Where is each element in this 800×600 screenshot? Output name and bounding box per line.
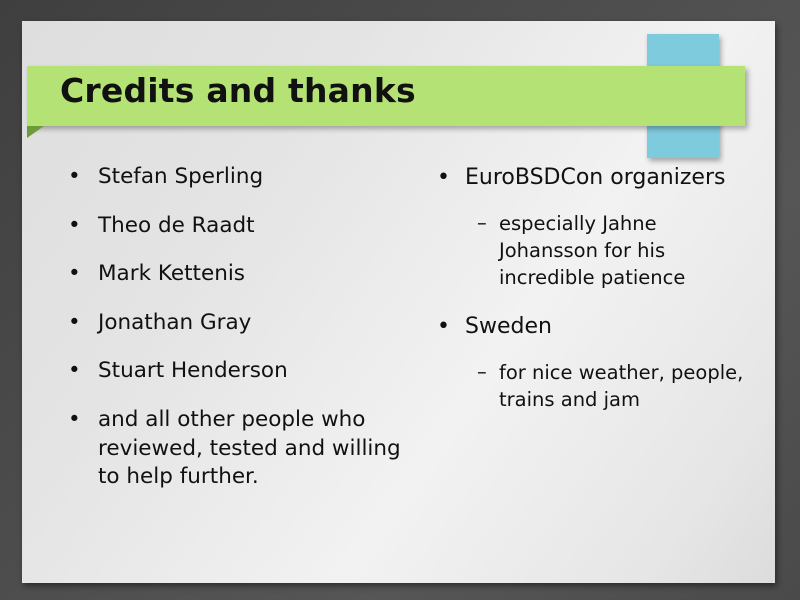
sub-bullet-marker: – — [477, 210, 487, 236]
bullet-marker: • — [437, 312, 450, 341]
slide-title: Credits and thanks — [60, 71, 416, 110]
list-item: • and all other people who reviewed, tes… — [68, 406, 428, 492]
list-item: • EuroBSDCon organizers — [437, 163, 787, 192]
bullet-marker: • — [68, 260, 81, 289]
bullet-marker: • — [437, 163, 450, 192]
list-item-text: EuroBSDCon organizers — [437, 163, 787, 192]
slide-canvas: Credits and thanks • Stefan Sperling • T… — [22, 21, 775, 583]
sub-list-item: – especially Jahne Johansson for his inc… — [437, 210, 787, 291]
list-item-text: Mark Kettenis — [68, 260, 428, 289]
right-content-column: • EuroBSDCon organizers – especially Jah… — [437, 163, 787, 413]
list-item-text: Theo de Raadt — [68, 212, 428, 241]
list-item: • Stefan Sperling — [68, 163, 428, 192]
bullet-marker: • — [68, 406, 81, 435]
title-banner-fold-shape — [27, 126, 44, 138]
list-item: • Stuart Henderson — [68, 357, 428, 386]
bullet-marker: • — [68, 357, 81, 386]
sub-list-item-text: for nice weather, people, trains and jam — [437, 359, 781, 413]
list-item-text: and all other people who reviewed, teste… — [68, 406, 418, 492]
list-item-text: Jonathan Gray — [68, 309, 428, 338]
list-item-text: Sweden — [437, 312, 787, 341]
bullet-marker: • — [68, 309, 81, 338]
list-item-text: Stuart Henderson — [68, 357, 428, 386]
list-item: • Mark Kettenis — [68, 260, 428, 289]
list-item: • Jonathan Gray — [68, 309, 428, 338]
sub-bullet-marker: – — [477, 359, 487, 385]
left-content-column: • Stefan Sperling • Theo de Raadt • Mark… — [68, 163, 428, 492]
list-item: • Theo de Raadt — [68, 212, 428, 241]
list-item: • Sweden — [437, 312, 787, 341]
bullet-marker: • — [68, 163, 81, 192]
sub-list-item: – for nice weather, people, trains and j… — [437, 359, 787, 413]
bullet-marker: • — [68, 212, 81, 241]
list-item-text: Stefan Sperling — [68, 163, 428, 192]
presentation-stage: Credits and thanks • Stefan Sperling • T… — [0, 0, 800, 600]
